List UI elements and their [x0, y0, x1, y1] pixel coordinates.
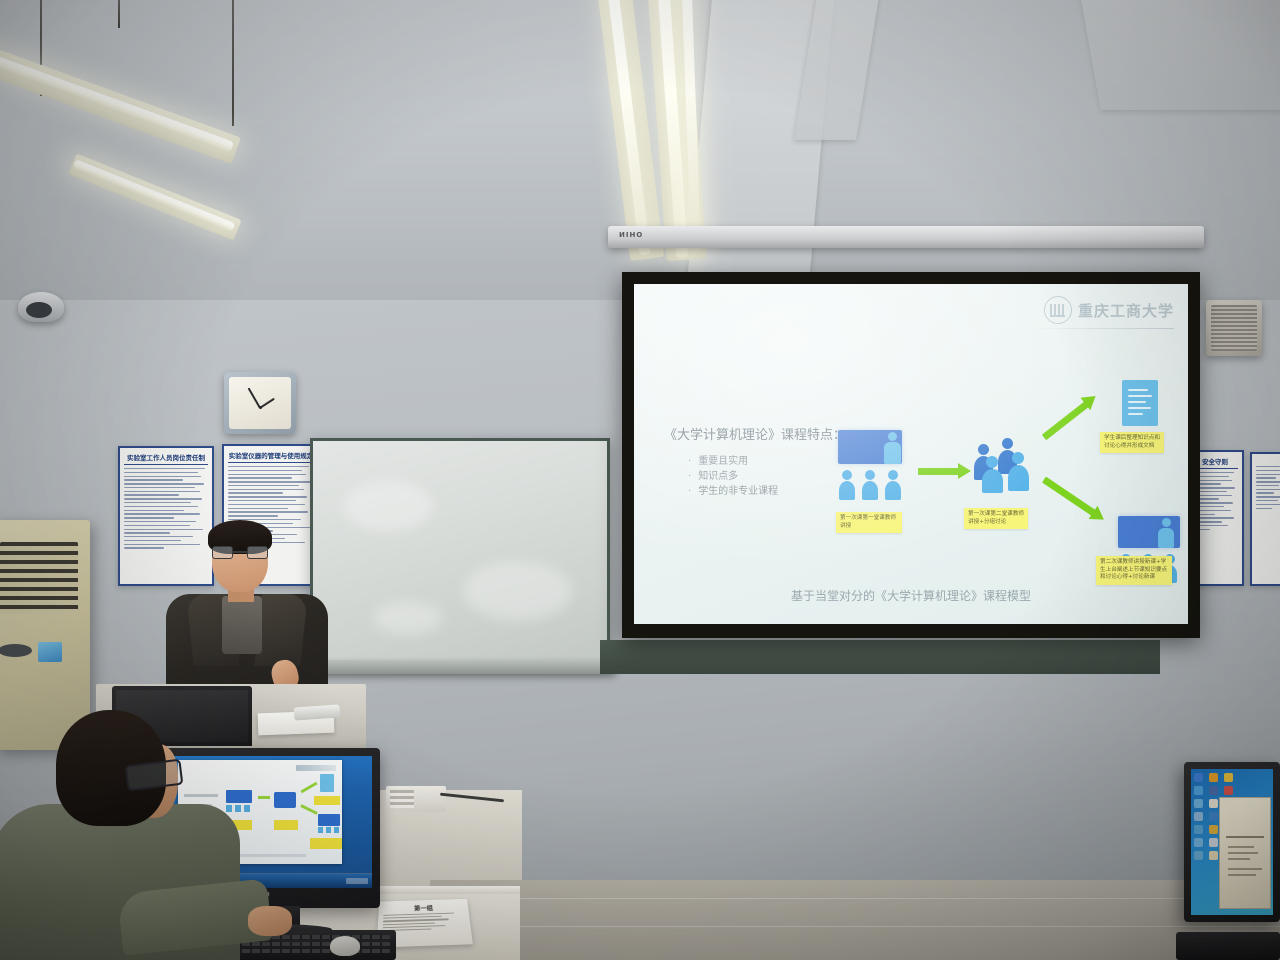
- student-monitor[interactable]: [1184, 762, 1280, 922]
- poster-left-1-title: 实验室工作人员岗位责任制: [124, 452, 208, 465]
- university-logo: 重庆工商大学: [1044, 296, 1174, 324]
- diagram-arrow-1: [918, 468, 960, 475]
- classroom-photo: 实验室工作人员岗位责任制 实验室仪器的管理与使用规定: [0, 0, 1280, 960]
- projection-screen: 重庆工商大学 《大学计算机理论》课程特点： 重要且实用 知识点多 学生的非专业课…: [622, 272, 1200, 638]
- student-monitor-screen[interactable]: [1191, 769, 1273, 915]
- floor: [430, 880, 1280, 960]
- student-hand: [248, 906, 292, 936]
- whiteboard: [310, 438, 610, 666]
- slide-note-1: 第一次课第一堂课教师讲授: [836, 512, 902, 533]
- housing-brand-label: OHIN: [618, 231, 642, 239]
- clock-hour-hand: [260, 398, 276, 409]
- desktop-icon-1[interactable]: [1194, 773, 1203, 782]
- seated-student: [0, 700, 260, 960]
- logo-divider: [1024, 328, 1174, 329]
- light-cord-b: [118, 0, 120, 28]
- speaker-grill: [1211, 305, 1257, 351]
- desktop-icon-6[interactable]: [1224, 786, 1233, 795]
- poster-left-2-title: 实验室仪器的管理与使用规定: [228, 450, 314, 463]
- slide-bullet-1: 重要且实用: [688, 454, 778, 469]
- system-tray[interactable]: [346, 878, 368, 884]
- group-name-card-roster: [383, 912, 466, 931]
- wall-clock: [224, 372, 296, 434]
- mouse[interactable]: [330, 936, 360, 956]
- desk-phone[interactable]: [386, 786, 446, 812]
- diagram-stage-1-lecture: [838, 430, 908, 502]
- teacher-head-icon: [888, 432, 897, 441]
- university-logo-text: 重庆工商大学: [1078, 300, 1174, 321]
- slide-bullet-2: 知识点多: [688, 469, 778, 484]
- student-keyboard[interactable]: [1176, 932, 1280, 960]
- desktop-icon-17[interactable]: [1209, 838, 1218, 847]
- diagram-arrow-1-head: [958, 463, 971, 479]
- slide-note-4: 第二次课教师讲授新课+学生上台阐述上节课知识要点和讨论心得+讨论新课: [1096, 556, 1172, 585]
- ac-brand-plate: [0, 644, 32, 657]
- ceiling-beam-right: [1079, 0, 1280, 110]
- slide-caption: 基于当堂对分的《大学计算机理论》课程模型: [634, 587, 1188, 604]
- desktop-icon-19[interactable]: [1194, 851, 1203, 860]
- desktop-icon-2[interactable]: [1209, 773, 1218, 782]
- clock-face: [229, 377, 291, 429]
- clock-center-pin: [259, 406, 262, 409]
- desktop-icon-3[interactable]: [1224, 773, 1233, 782]
- monitor-slide-group: [274, 792, 296, 808]
- desktop-icon-20[interactable]: [1209, 851, 1218, 860]
- desktop-icon-11[interactable]: [1209, 812, 1218, 821]
- desktop-icon-16[interactable]: [1194, 838, 1203, 847]
- phone-keypad[interactable]: [390, 790, 414, 808]
- student-monitor-document-window[interactable]: [1219, 797, 1271, 909]
- diagram-document-icon: [1122, 380, 1158, 426]
- desktop-icon-14[interactable]: [1209, 825, 1218, 834]
- diagram-arrow-2-up: [1042, 399, 1092, 440]
- presenter-glasses-icon: [212, 546, 268, 559]
- board-lower-strip: [600, 640, 1160, 674]
- camera-lens: [26, 302, 52, 318]
- projection-screen-surface: 重庆工商大学 《大学计算机理论》课程特点： 重要且实用 知识点多 学生的非专业课…: [634, 284, 1188, 624]
- light-cord-c: [232, 0, 234, 126]
- group-name-card-title: 第一组: [383, 902, 463, 914]
- ac-vent-grill: [0, 542, 78, 614]
- monitor-slide-note-3: [314, 796, 340, 805]
- monitor-slide-note-4: [310, 838, 342, 849]
- presenter-shirt: [222, 596, 262, 654]
- slide-note-2: 第一次课第二堂课教师讲授+分组讨论: [964, 508, 1028, 529]
- desktop-icon-8[interactable]: [1209, 799, 1218, 808]
- slide-bullet-3: 学生的非专业课程: [688, 484, 778, 499]
- projection-screen-housing: OHIN: [608, 226, 1204, 248]
- teacher-body-icon: [884, 442, 901, 464]
- ceiling-dome-camera: [18, 292, 64, 322]
- whiteboard-marker-tray: [306, 660, 616, 674]
- ac-energy-label: [38, 642, 62, 662]
- university-emblem-icon: [1044, 296, 1072, 324]
- desktop-icon-10[interactable]: [1194, 812, 1203, 821]
- slide-bullet-list: 重要且实用 知识点多 学生的非专业课程: [688, 454, 778, 499]
- desktop-icon-5[interactable]: [1209, 786, 1218, 795]
- monitor-slide-doc: [320, 774, 334, 792]
- presenter-lapel-right: [254, 594, 308, 666]
- desktop-icon-13[interactable]: [1194, 825, 1203, 834]
- desktop-icon-7[interactable]: [1194, 799, 1203, 808]
- poster-right-2-body: [1256, 466, 1280, 509]
- monitor-slide-note-2: [274, 820, 298, 830]
- monitor-slide-board-2: [318, 814, 340, 826]
- poster-right-2: [1250, 452, 1280, 586]
- slide-note-3: 学生课后整理知识点和讨论心得并形成文档: [1100, 432, 1164, 453]
- desktop-icon-4[interactable]: [1194, 786, 1203, 795]
- diagram-stage-2-discussion: [972, 432, 1040, 494]
- wall-speaker: [1206, 300, 1262, 356]
- slide-heading: 《大学计算机理论》课程特点：: [664, 424, 846, 443]
- monitor-slide-logo: [296, 765, 336, 771]
- presentation-slide: 重庆工商大学 《大学计算机理论》课程特点： 重要且实用 知识点多 学生的非专业课…: [634, 284, 1188, 624]
